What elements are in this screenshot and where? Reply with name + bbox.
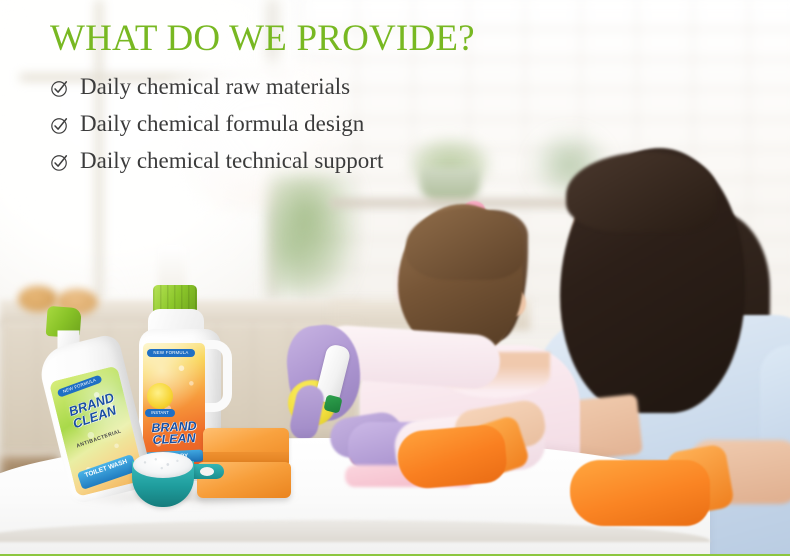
list-item: Daily chemical technical support xyxy=(50,143,570,179)
list-item: Daily chemical raw materials xyxy=(50,69,570,105)
what-do-we-provide-banner: NEW FORMULA INSTANT BRAND CLEAN LAUNDRY … xyxy=(0,0,790,556)
services-list: Daily chemical raw materials Daily chemi… xyxy=(50,69,570,179)
washing-powder-texture xyxy=(133,452,193,478)
orange-brand-line-2: CLEAN xyxy=(143,431,205,446)
circled-check-icon xyxy=(50,153,69,172)
orange-glove-right xyxy=(570,460,710,526)
scoop-handle-hole xyxy=(200,467,214,476)
orange-bottle-label: NEW FORMULA INSTANT BRAND CLEAN LAUNDRY … xyxy=(143,343,205,469)
girl-hair-front xyxy=(406,208,524,280)
list-item-label: Daily chemical raw materials xyxy=(80,72,350,102)
list-item-label: Daily chemical technical support xyxy=(80,146,383,176)
headline-block: WHAT DO WE PROVIDE? Daily chemical raw m… xyxy=(50,18,570,180)
lemon-graphic xyxy=(147,383,173,409)
list-item-label: Daily chemical formula design xyxy=(80,109,364,139)
list-item: Daily chemical formula design xyxy=(50,106,570,142)
circled-check-icon xyxy=(50,79,69,98)
instant-chip: INSTANT xyxy=(145,409,175,417)
page-title: WHAT DO WE PROVIDE? xyxy=(50,18,570,60)
green-plant xyxy=(270,175,360,295)
green-bottle-label: NEW FORMULA BRAND CLEAN ANTIBACTERIAL TO… xyxy=(49,365,145,496)
circled-check-icon xyxy=(50,116,69,135)
new-formula-badge: NEW FORMULA xyxy=(147,349,195,357)
orange-glove-left xyxy=(396,423,509,490)
